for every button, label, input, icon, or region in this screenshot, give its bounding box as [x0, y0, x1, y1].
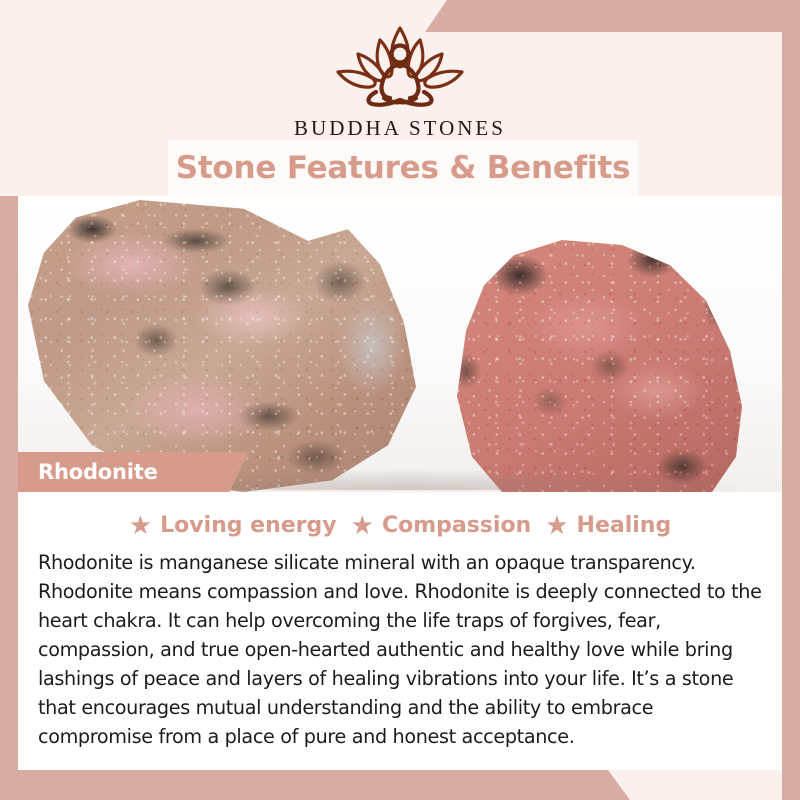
- benefit-label-3: Healing: [577, 513, 672, 538]
- brand-name: BUDDHA STONES: [0, 116, 800, 141]
- benefit-label-1: Loving energy: [160, 513, 337, 538]
- benefits-row: ★ Loving energy ★ Compassion ★ Healing: [18, 512, 782, 538]
- stone-name-banner: Rhodonite: [18, 452, 248, 492]
- lotus-meditation-icon: [314, 18, 486, 114]
- benefit-item-1: ★ Loving energy: [129, 512, 337, 538]
- benefit-label-2: Compassion: [382, 513, 531, 538]
- infographic-page: BUDDHA STONES Stone Features & Benefits …: [0, 0, 800, 800]
- benefit-item-2: ★ Compassion: [351, 512, 532, 538]
- decor-bottom-left-band: [0, 770, 630, 800]
- content-panel: ★ Loving energy ★ Compassion ★ Healing R…: [18, 492, 782, 770]
- star-icon: ★: [129, 512, 152, 538]
- brand-logo: BUDDHA STONES: [0, 18, 800, 141]
- title-banner: Stone Features & Benefits: [168, 140, 638, 196]
- star-icon: ★: [351, 512, 374, 538]
- stone-photo: [18, 196, 782, 492]
- stone-description: Rhodonite is manganese silicate mineral …: [38, 548, 762, 751]
- stone-name-label: Rhodonite: [38, 460, 158, 484]
- star-icon: ★: [545, 512, 568, 538]
- page-title: Stone Features & Benefits: [176, 150, 631, 186]
- decor-left-border: [0, 196, 18, 800]
- benefit-item-3: ★ Healing: [545, 512, 671, 538]
